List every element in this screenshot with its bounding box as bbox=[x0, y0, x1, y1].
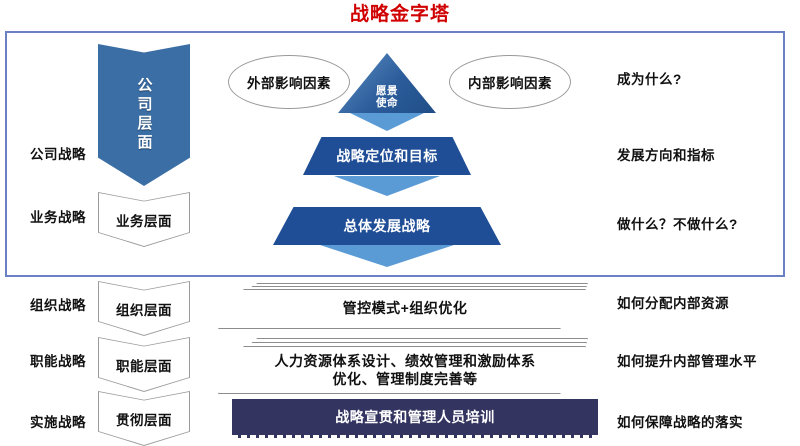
level-label-function: 职能层面 bbox=[116, 355, 172, 375]
ellipse-label-external: 外部影响因素 bbox=[247, 72, 331, 92]
dark-bar-label: 战略宣贯和管理人员培训 bbox=[335, 407, 495, 427]
question-become-what: 成为什么? bbox=[617, 68, 682, 88]
level-chevron-implementation[interactable]: 贯彻层面 bbox=[98, 391, 190, 446]
parallelogram-label-hr-line2: 优化、管理制度完善等 bbox=[218, 370, 592, 388]
level-label-organization: 组织层面 bbox=[116, 299, 172, 319]
row-label-business: 业务战略 bbox=[8, 206, 108, 226]
row-label-organization: 组织战略 bbox=[8, 294, 108, 314]
level-chevron-function[interactable]: 职能层面 bbox=[98, 337, 190, 392]
level-chevron-business[interactable]: 业务层面 bbox=[98, 192, 190, 247]
question-do-what: 做什么？不做什么? bbox=[617, 213, 738, 233]
question-direction-indicators: 发展方向和指标 bbox=[617, 144, 715, 164]
row-label-corporate: 公司战略 bbox=[8, 143, 108, 163]
ellipse-internal-factors[interactable]: 内部影响因素 bbox=[449, 55, 571, 109]
trapezoid-overall-development[interactable]: 总体发展战略 bbox=[273, 207, 501, 245]
page-title: 战略金字塔 bbox=[0, 3, 800, 27]
question-improve-management: 如何提升内部管理水平 bbox=[617, 350, 757, 370]
level-chevron-organization[interactable]: 组织层面 bbox=[98, 281, 190, 336]
parallelogram-stack-control-model[interactable]: 管控模式+组织优化 bbox=[218, 283, 592, 329]
trapezoid-label-strategic-positioning: 战略定位和目标 bbox=[336, 146, 438, 166]
dark-bar-training[interactable]: 战略宣贯和管理人员培训 bbox=[232, 399, 598, 438]
row-label-implementation: 实施战略 bbox=[8, 411, 108, 431]
question-allocate-resources: 如何分配内部资源 bbox=[617, 292, 729, 312]
parallelogram-stack-hr-system[interactable]: 人力资源体系设计、绩效管理和激励体系 优化、管理制度完善等 bbox=[218, 338, 592, 394]
ellipse-label-internal: 内部影响因素 bbox=[468, 72, 552, 92]
question-ensure-implementation: 如何保障战略的落实 bbox=[617, 411, 743, 431]
triangle-text: 愿景 使命 bbox=[376, 85, 398, 113]
level-label-implementation: 贯彻层面 bbox=[116, 409, 172, 429]
level-label-business: 业务层面 bbox=[116, 210, 172, 230]
ellipse-external-factors[interactable]: 外部影响因素 bbox=[228, 55, 350, 109]
level-chevron-company[interactable]: 公司层面 bbox=[98, 44, 190, 186]
row-label-function: 职能战略 bbox=[8, 350, 108, 370]
level-label-company: 公司层面 bbox=[137, 77, 152, 153]
trapezoid-strategic-positioning[interactable]: 战略定位和目标 bbox=[303, 137, 471, 175]
trapezoid-label-overall-development: 总体发展战略 bbox=[344, 216, 431, 236]
triangle-line-vision: 愿景 bbox=[376, 85, 398, 97]
parallelogram-label-hr-line1: 人力资源体系设计、绩效管理和激励体系 bbox=[218, 352, 592, 370]
parallelogram-label-control-model: 管控模式+组织优化 bbox=[218, 299, 592, 317]
triangle-line-mission: 使命 bbox=[376, 97, 398, 109]
